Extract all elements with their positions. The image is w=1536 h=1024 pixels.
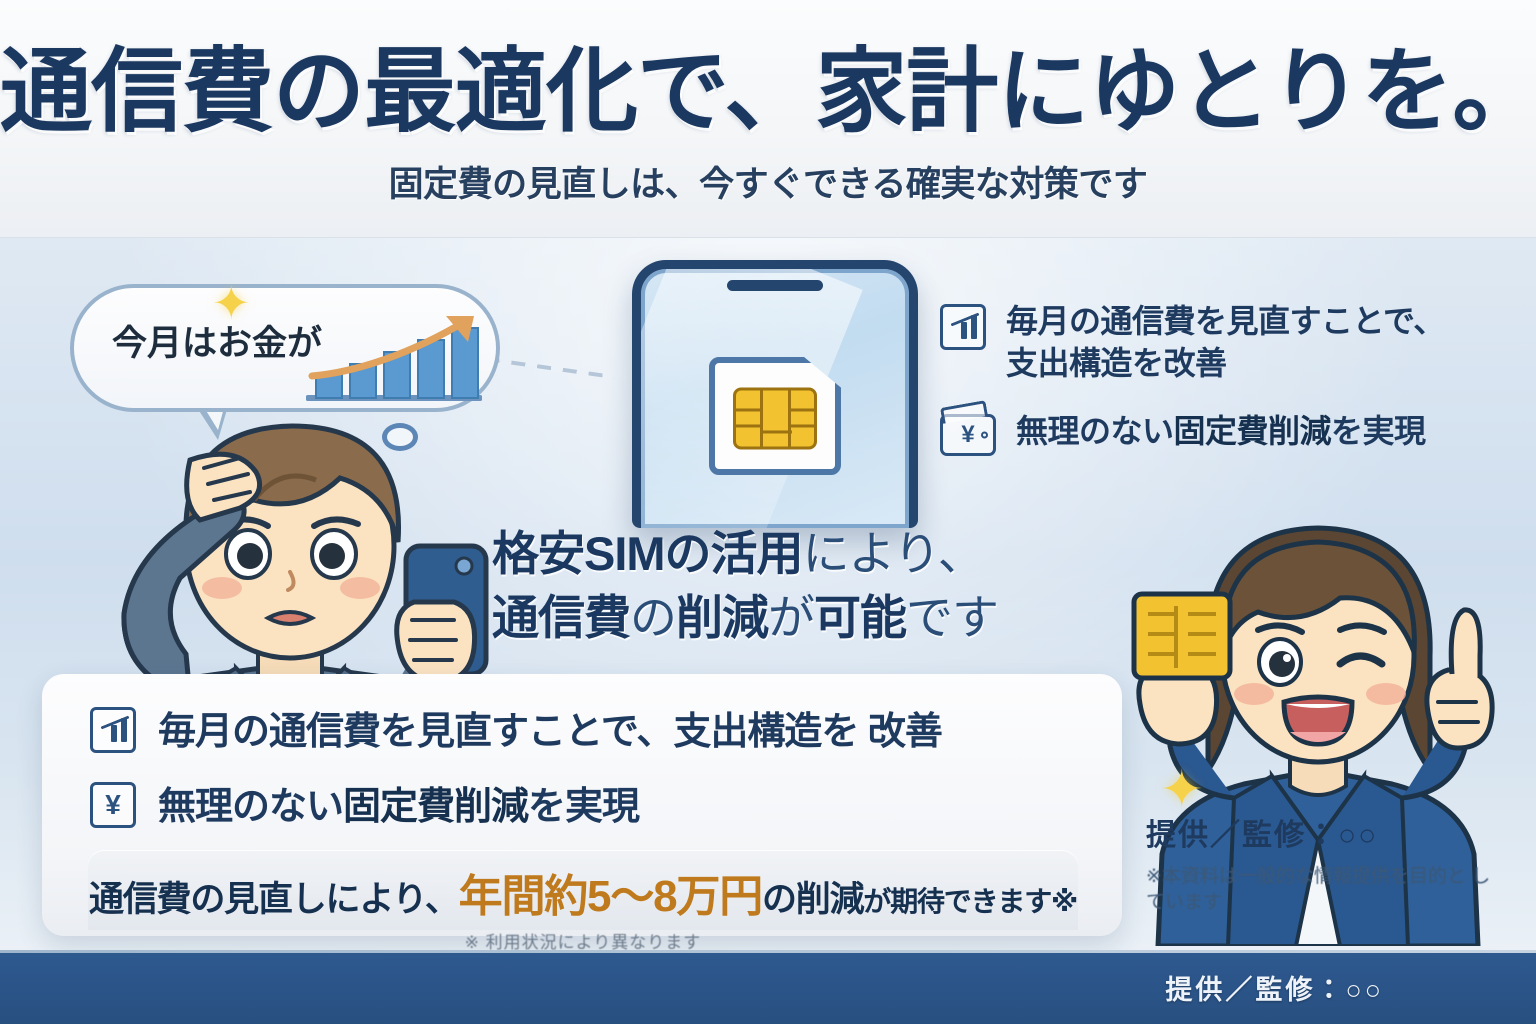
right-point-2-strong: 固定費削減 — [1174, 413, 1332, 449]
callout-suffix: の削減 — [762, 880, 863, 919]
footer-credit: 提供／監修：○○ — [1165, 968, 1384, 1007]
smartphone-illustration — [632, 260, 918, 528]
credit-block: 提供／監修：○○ ※本資料は一般的な情報提供を目的と しています — [1146, 810, 1506, 915]
header-band: 通信費の最適化で、家計にゆとりを。 固定費の見直しは、今すぐできる確実な対策です — [0, 0, 1536, 238]
chart-icon — [90, 707, 136, 753]
sparkle-icon-woman: ✦ — [1160, 764, 1204, 816]
wallet-yen-icon: ¥ — [940, 414, 996, 456]
page-subtitle: 固定費の見直しは、今すぐできる確実な対策です — [0, 156, 1536, 207]
list-item: ¥ 無理のない固定費削減を実現 — [940, 410, 1520, 456]
infographic-poster: 通信費の最適化で、家計にゆとりを。 固定費の見直しは、今すぐできる確実な対策です… — [0, 0, 1536, 1024]
callout-tail: が期待できます※ — [863, 886, 1077, 917]
center-headline: 格安SIMの活用により、 通信費の削減が可能です — [492, 522, 998, 650]
savings-callout: 通信費の見直しにより、年間約5〜8万円の削減が期待できます※ ※ 利用状況により… — [88, 850, 1078, 930]
speech-bubble: 今月はお金が — [70, 284, 500, 412]
sparkle-icon-phone: ✦ — [212, 280, 251, 326]
center-headline-line1: 格安SIMの活用により、 — [492, 522, 998, 586]
list-item: 毎月の通信費を見直すことで、 支出構造を改善 — [940, 300, 1520, 384]
right-point-1-line2: 支出構造を改善 — [1006, 342, 1445, 384]
center-headline-line2: 通信費の削減が可能です — [492, 586, 998, 650]
savings-callout-text: 通信費の見直しにより、年間約5〜8万円の削減が期待できます※ — [88, 860, 1078, 924]
center-headline-light-1: により、 — [803, 527, 984, 580]
card-point-2-a: 無理のない — [158, 786, 343, 828]
right-point-2-a: 無理のない — [1016, 413, 1174, 449]
right-point-2: 無理のない固定費削減を実現 — [1016, 410, 1426, 452]
yen-icon: ¥ — [90, 782, 136, 828]
center-headline-light-2b: が — [768, 591, 814, 644]
main-stage: 今月はお金が — [0, 238, 1536, 950]
center-headline-strong-2b: 削減 — [676, 591, 768, 644]
footer-separator — [0, 950, 1536, 953]
savings-callout-note: ※ 利用状況により異なります — [88, 928, 1078, 950]
card-point-2: 無理のない固定費削減を実現 — [158, 775, 639, 830]
page-title: 通信費の最適化で、家計にゆとりを。 — [0, 44, 1536, 142]
card-point-1: 毎月の通信費を見直すことで、支出構造を 改善 — [158, 700, 942, 755]
card-point-2-b: を実現 — [528, 786, 639, 828]
credit-label: 提供／監修：○○ — [1146, 810, 1506, 854]
right-point-1-line1: 毎月の通信費を見直すことで、 — [1006, 300, 1445, 342]
center-headline-strong-2c: 可能 — [814, 591, 906, 644]
list-item: ¥ 無理のない固定費削減を実現 — [90, 775, 1082, 830]
right-point-1: 毎月の通信費を見直すことで、 支出構造を改善 — [1006, 300, 1445, 384]
credit-disclaimer: ※本資料は一般的な情報提供を目的と しています — [1146, 864, 1506, 915]
center-headline-strong-2a: 通信費 — [492, 591, 630, 644]
center-headline-light-2c: です — [906, 591, 998, 644]
callout-amount: 年間約5〜8万円 — [459, 872, 762, 921]
footer-bar: 提供／監修：○○ — [0, 950, 1536, 1024]
phone-speaker-notch — [727, 280, 823, 291]
callout-prefix: 通信費の見直しにより、 — [89, 880, 459, 919]
right-point-2-b: を実現 — [1331, 413, 1426, 449]
benefits-card: 毎月の通信費を見直すことで、支出構造を 改善 ¥ 無理のない固定費削減を実現 通… — [42, 674, 1122, 936]
card-point-2-strong: 固定費削減 — [343, 786, 528, 828]
sim-card-icon — [709, 357, 841, 475]
list-item: 毎月の通信費を見直すことで、支出構造を 改善 — [90, 700, 1082, 755]
center-headline-light-2a: の — [630, 591, 676, 644]
sim-chip — [733, 387, 817, 449]
dashed-connector — [485, 357, 614, 379]
right-benefit-list: 毎月の通信費を見直すことで、 支出構造を改善 ¥ 無理のない固定費削減を実現 — [940, 300, 1520, 482]
rising-bar-chart-icon — [306, 310, 482, 406]
center-headline-strong-1: 格安SIMの活用 — [492, 527, 803, 580]
chart-icon — [940, 304, 986, 350]
